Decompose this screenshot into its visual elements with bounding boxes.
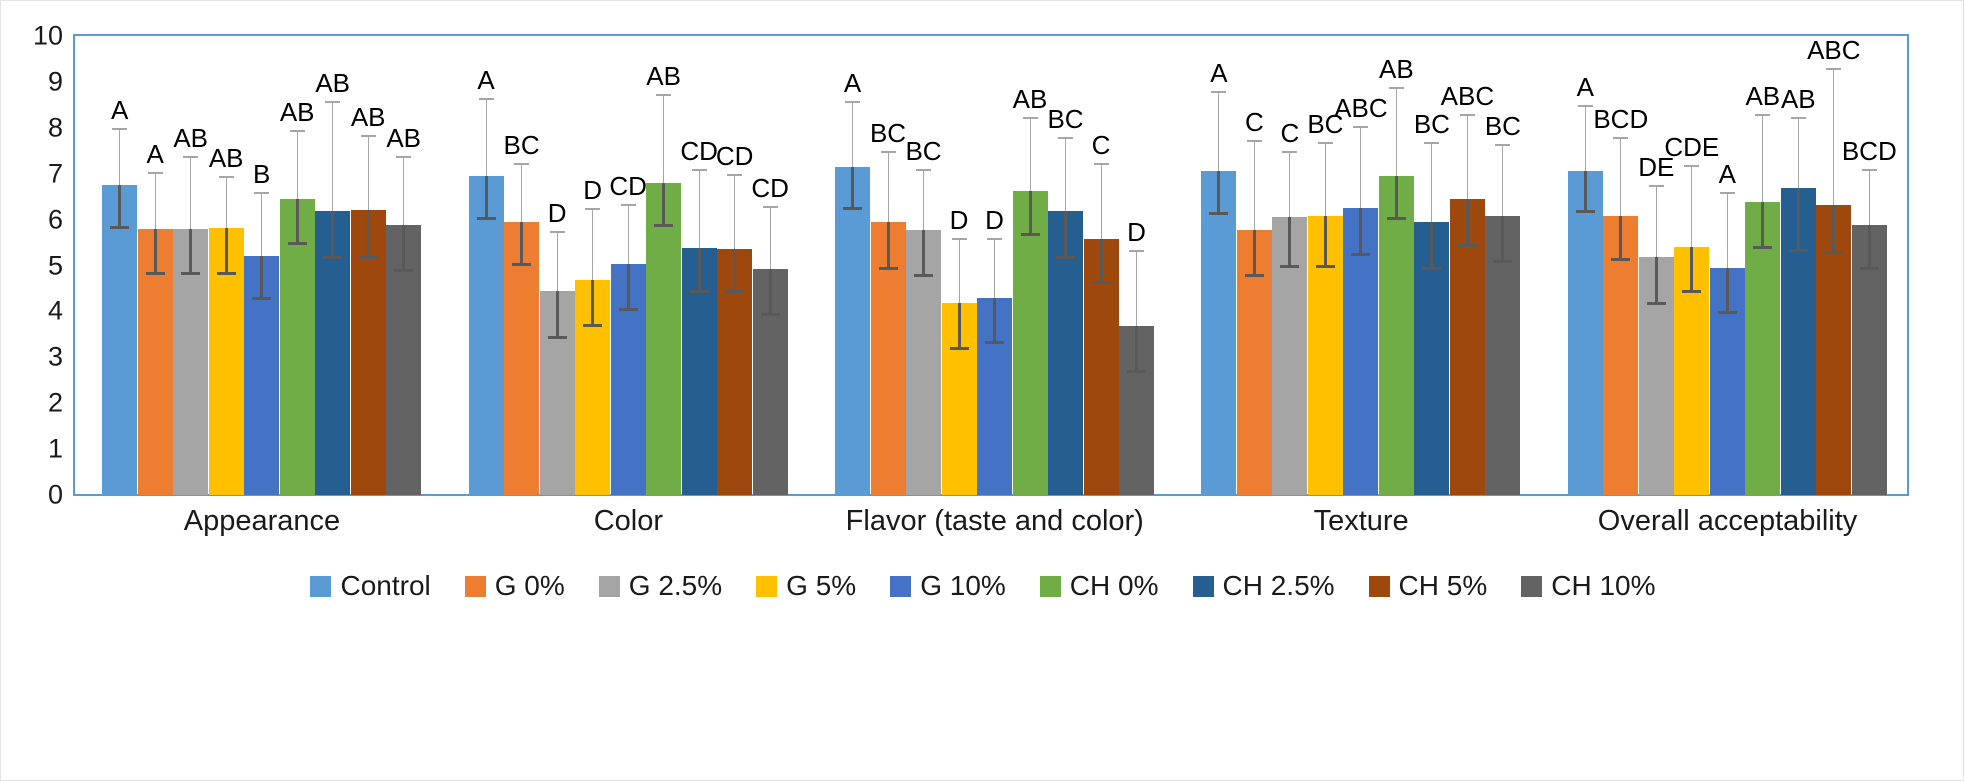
- error-bar-upper-cap: [1389, 87, 1404, 89]
- error-bar-lower-cap: [1647, 302, 1666, 305]
- significance-letter: C: [1245, 109, 1264, 135]
- error-bar-lower-line: [1100, 239, 1103, 284]
- error-bar-lower-line: [260, 256, 263, 300]
- error-bar-lower-cap: [110, 226, 129, 229]
- error-bar-lower-cap: [512, 263, 531, 266]
- error-bar-upper-cap: [1649, 185, 1664, 187]
- significance-letter: AB: [1379, 56, 1414, 82]
- error-bar-lower-cap: [217, 272, 236, 275]
- error-bar-lower-line: [1253, 230, 1256, 277]
- error-bar-upper-cap: [1613, 137, 1628, 139]
- error-bar-lower-cap: [690, 290, 709, 293]
- bar-slot: D: [977, 36, 1012, 495]
- error-bar-upper-line: [1360, 128, 1361, 208]
- y-axis-tick-8: 8: [48, 114, 63, 141]
- significance-letter: D: [985, 207, 1004, 233]
- error-bar-lower-line: [1761, 202, 1764, 249]
- chart-legend: ControlG 0%G 2.5%G 5%G 10%CH 0%CH 2.5%CH…: [1, 563, 1964, 609]
- bar-slot: A: [469, 36, 504, 495]
- significance-letter: D: [548, 200, 567, 226]
- error-bar-upper-cap: [1353, 126, 1368, 128]
- error-bar-lower-cap: [288, 242, 307, 245]
- significance-letter: A: [477, 67, 494, 93]
- error-bar-lower-line: [1501, 216, 1504, 263]
- error-bar-upper-cap: [1424, 142, 1439, 144]
- error-bar-lower-line: [1135, 326, 1138, 373]
- bar-slot: CDE: [1674, 36, 1709, 495]
- error-bar-lower-cap: [323, 256, 342, 259]
- error-bar-lower-line: [1288, 217, 1291, 267]
- legend-label-ch-5: CH 5%: [1399, 572, 1488, 600]
- error-bar-lower-line: [225, 228, 228, 275]
- error-bar-lower-cap: [1753, 246, 1772, 249]
- bar-control[interactable]: [469, 176, 504, 495]
- error-bar-lower-line: [1619, 216, 1622, 261]
- error-bar-upper-line: [297, 132, 298, 199]
- error-bar-upper-cap: [183, 156, 198, 158]
- error-bar-upper-line: [959, 240, 960, 303]
- error-bar-lower-line: [296, 199, 299, 245]
- error-bar-lower-cap: [985, 341, 1004, 344]
- error-bar-upper-line: [332, 103, 333, 212]
- error-bar-upper-cap: [219, 176, 234, 178]
- error-bar-lower-cap: [1316, 265, 1335, 268]
- bar-slot: C: [1272, 36, 1307, 495]
- significance-letter: A: [1719, 161, 1736, 187]
- error-bar-upper-line: [1431, 144, 1432, 222]
- error-bar-upper-cap: [1578, 105, 1593, 107]
- error-bar-lower-cap: [1351, 253, 1370, 256]
- error-bar-upper-line: [1101, 165, 1102, 239]
- error-bar-upper-cap: [290, 130, 305, 132]
- error-bar-upper-line: [734, 176, 735, 249]
- y-axis-tick-3: 3: [48, 344, 63, 371]
- legend-item-control[interactable]: Control: [310, 572, 430, 600]
- error-bar-upper-line: [1691, 167, 1692, 247]
- error-bar-lower-line: [485, 176, 488, 220]
- error-bar-upper-cap: [396, 156, 411, 158]
- legend-label-g-10: G 10%: [920, 572, 1006, 600]
- error-bar-lower-cap: [1718, 311, 1737, 314]
- plot-area: AAABABBABABABABABCDDCDABCDCDCDABCBCDDABB…: [75, 36, 1907, 495]
- significance-letter: B: [253, 161, 270, 187]
- error-bar-upper-line: [226, 178, 227, 228]
- error-bar-lower-line: [662, 183, 665, 227]
- y-axis-tick-10: 10: [33, 23, 63, 50]
- y-axis-tick-2: 2: [48, 390, 63, 417]
- significance-letter: A: [1210, 60, 1227, 86]
- bar-slot: D: [1119, 36, 1154, 495]
- bar-slot: CD: [611, 36, 646, 495]
- error-bar-upper-cap: [585, 208, 600, 210]
- error-bar-upper-cap: [1684, 165, 1699, 167]
- error-bar-upper-cap: [952, 238, 967, 240]
- bar-group-color: ABCDDCDABCDCDCD: [469, 36, 789, 495]
- error-bar-lower-line: [1217, 171, 1220, 215]
- error-bar-lower-line: [1466, 199, 1469, 247]
- bar-slot: B: [244, 36, 279, 495]
- legend-label-ch-2-5: CH 2.5%: [1223, 572, 1335, 600]
- error-bar-upper-line: [261, 194, 262, 256]
- legend-label-g-2-5: G 2.5%: [629, 572, 722, 600]
- error-bar-lower-cap: [252, 297, 271, 300]
- error-bar-lower-line: [887, 222, 890, 270]
- error-bar-upper-line: [888, 153, 889, 222]
- error-bar-lower-cap: [1021, 233, 1040, 236]
- bar-slot: DE: [1639, 36, 1674, 495]
- legend-label-ch-10: CH 10%: [1551, 572, 1655, 600]
- significance-letter: BC: [1414, 111, 1450, 137]
- error-bar-lower-cap: [1209, 212, 1228, 215]
- error-bar-lower-line: [154, 229, 157, 275]
- error-bar-upper-cap: [845, 101, 860, 103]
- error-bar-upper-line: [368, 137, 369, 210]
- error-bar-upper-cap: [1094, 163, 1109, 165]
- bar-slot: A: [1201, 36, 1236, 495]
- error-bar-upper-cap: [1791, 117, 1806, 119]
- chart-page: 012345678910 AAABABBABABABABABCDDCDABCDC…: [0, 0, 1964, 781]
- error-bar-upper-cap: [621, 204, 636, 206]
- error-bar-upper-line: [521, 165, 522, 222]
- error-bar-lower-cap: [1824, 251, 1843, 254]
- bar-slot: D: [540, 36, 575, 495]
- bar-group-appearance: AAABABBABABABAB: [102, 36, 422, 495]
- legend-item-g-5[interactable]: G 5%: [756, 572, 856, 600]
- bar-slot: D: [575, 36, 610, 495]
- error-bar-upper-line: [119, 130, 120, 185]
- error-bar-lower-line: [1395, 176, 1398, 220]
- bar-slot: D: [942, 36, 977, 495]
- bar-slot: A: [138, 36, 173, 495]
- error-bar-lower-cap: [843, 207, 862, 210]
- bar-slot: ABC: [1450, 36, 1485, 495]
- error-bar-lower-line: [1797, 188, 1800, 251]
- error-bar-lower-cap: [359, 256, 378, 259]
- error-bar-upper-cap: [1720, 192, 1735, 194]
- legend-swatch-ch-2-5: [1193, 576, 1214, 597]
- error-bar-upper-line: [1656, 187, 1657, 257]
- error-bar-lower-cap: [1387, 217, 1406, 220]
- significance-letter: BC: [870, 120, 906, 146]
- error-bar-lower-line: [769, 269, 772, 316]
- error-bar-upper-cap: [1318, 142, 1333, 144]
- error-bar-lower-cap: [1458, 244, 1477, 247]
- category-label: Texture: [1314, 504, 1409, 539]
- bar-ch-0[interactable]: [1379, 176, 1414, 495]
- significance-letter: A: [147, 141, 164, 167]
- error-bar-lower-line: [851, 167, 854, 211]
- significance-letter: CD: [680, 138, 718, 164]
- bar-slot: BCD: [1603, 36, 1638, 495]
- error-bar-lower-line: [922, 230, 925, 277]
- error-bar-upper-line: [699, 171, 700, 248]
- error-bar-lower-cap: [1576, 210, 1595, 213]
- error-bar-lower-line: [1655, 257, 1658, 304]
- error-bar-upper-line: [486, 100, 487, 176]
- error-bar-lower-cap: [1422, 267, 1441, 270]
- legend-swatch-g-10: [890, 576, 911, 597]
- significance-letter: D: [583, 177, 602, 203]
- bar-group-flavor-taste-and-color: ABCBCDDABBCCD: [835, 36, 1155, 495]
- error-bar-lower-line: [1832, 205, 1835, 254]
- error-bar-lower-cap: [1056, 256, 1075, 259]
- error-bar-upper-cap: [1862, 169, 1877, 171]
- bar-slot: AB: [1781, 36, 1816, 495]
- error-bar-upper-line: [1325, 144, 1326, 216]
- significance-letter: C: [1281, 120, 1300, 146]
- error-bar-lower-line: [627, 264, 630, 311]
- significance-letter: BC: [1047, 106, 1083, 132]
- error-bar-upper-cap: [550, 231, 565, 233]
- error-bar-upper-cap: [1058, 137, 1073, 139]
- error-bar-lower-cap: [725, 290, 744, 293]
- error-bar-upper-cap: [1023, 117, 1038, 119]
- error-bar-upper-line: [1727, 194, 1728, 267]
- error-bar-lower-line: [1064, 211, 1067, 258]
- y-axis-tick-1: 1: [48, 436, 63, 463]
- legend-item-ch-0[interactable]: CH 0%: [1040, 572, 1159, 600]
- bar-slot: A: [1710, 36, 1745, 495]
- error-bar-upper-cap: [148, 172, 163, 174]
- legend-item-ch-5[interactable]: CH 5%: [1369, 572, 1488, 600]
- bar-slot: AB: [1013, 36, 1048, 495]
- error-bar-lower-line: [698, 248, 701, 293]
- error-bar-upper-line: [1396, 89, 1397, 176]
- significance-letter: AB: [1781, 86, 1816, 112]
- bar-slot: ABC: [1343, 36, 1378, 495]
- category-label: Color: [594, 504, 663, 539]
- y-axis-tick-4: 4: [48, 298, 63, 325]
- error-bar-upper-cap: [479, 98, 494, 100]
- error-bar-lower-cap: [583, 324, 602, 327]
- error-bar-lower-line: [1584, 171, 1587, 212]
- error-bar-upper-line: [1620, 139, 1621, 216]
- error-bar-lower-cap: [761, 313, 780, 316]
- error-bar-upper-line: [1254, 142, 1255, 230]
- significance-letter: AB: [386, 125, 421, 151]
- error-bar-upper-line: [1289, 153, 1290, 217]
- error-bar-lower-cap: [914, 274, 933, 277]
- significance-letter: BC: [905, 138, 941, 164]
- bar-slot: AB: [315, 36, 350, 495]
- bar-slot: C: [1084, 36, 1119, 495]
- bar-slot: BC: [1048, 36, 1083, 495]
- legend-item-ch-2-5[interactable]: CH 2.5%: [1193, 572, 1335, 600]
- error-bar-upper-cap: [1495, 144, 1510, 146]
- error-bar-upper-line: [1030, 119, 1031, 192]
- legend-label-control: Control: [340, 572, 430, 600]
- error-bar-lower-line: [1324, 216, 1327, 268]
- error-bar-lower-line: [1726, 268, 1729, 314]
- significance-letter: A: [111, 97, 128, 123]
- error-bar-lower-cap: [619, 308, 638, 311]
- error-bar-upper-cap: [1247, 140, 1262, 142]
- error-bar-upper-cap: [1129, 250, 1144, 252]
- error-bar-lower-cap: [1245, 274, 1264, 277]
- bar-control[interactable]: [1568, 171, 1603, 495]
- significance-letter: AB: [209, 145, 244, 171]
- error-bar-lower-line: [331, 211, 334, 258]
- error-bar-upper-cap: [656, 94, 671, 96]
- bar-slot: C: [1237, 36, 1272, 495]
- error-bar-lower-line: [1029, 191, 1032, 236]
- error-bar-upper-line: [1502, 146, 1503, 216]
- bar-slot: AB: [209, 36, 244, 495]
- bar-ch-0[interactable]: [646, 183, 681, 495]
- error-bar-lower-line: [1690, 247, 1693, 293]
- error-bar-lower-cap: [1092, 281, 1111, 284]
- error-bar-upper-cap: [763, 206, 778, 208]
- error-bar-upper-line: [190, 158, 191, 229]
- error-bar-lower-line: [520, 222, 523, 266]
- bar-slot: CD: [753, 36, 788, 495]
- error-bar-upper-line: [923, 171, 924, 229]
- bar-slot: AB: [173, 36, 208, 495]
- error-bar-upper-cap: [514, 163, 529, 165]
- legend-swatch-g-2-5: [599, 576, 620, 597]
- error-bar-lower-cap: [181, 272, 200, 275]
- error-bar-lower-cap: [394, 269, 413, 272]
- error-bar-lower-line: [1359, 208, 1362, 256]
- error-bar-upper-line: [994, 240, 995, 297]
- error-bar-upper-line: [592, 210, 593, 280]
- significance-letter: C: [1092, 132, 1111, 158]
- legend-label-g-0: G 0%: [495, 572, 565, 600]
- significance-letter: BC: [504, 132, 540, 158]
- error-bar-upper-line: [155, 174, 156, 229]
- error-bar-lower-cap: [146, 272, 165, 275]
- legend-item-g-10[interactable]: G 10%: [890, 572, 1006, 600]
- error-bar-lower-line: [1868, 225, 1871, 270]
- significance-letter: AB: [351, 104, 386, 130]
- y-axis-tick-6: 6: [48, 206, 63, 233]
- error-bar-upper-line: [1869, 171, 1870, 225]
- error-bar-upper-line: [852, 103, 853, 167]
- error-bar-upper-cap: [987, 238, 1002, 240]
- error-bar-lower-line: [733, 249, 736, 293]
- bar-slot: CD: [717, 36, 752, 495]
- error-bar-upper-cap: [254, 192, 269, 194]
- y-axis-tick-0: 0: [48, 482, 63, 509]
- legend-label-ch-0: CH 0%: [1070, 572, 1159, 600]
- significance-letter: AB: [1745, 83, 1780, 109]
- bar-slot: BC: [906, 36, 941, 495]
- category-label: Overall acceptability: [1598, 504, 1858, 539]
- error-bar-lower-cap: [1280, 265, 1299, 268]
- error-bar-upper-cap: [1282, 151, 1297, 153]
- bar-ch-0[interactable]: [1013, 191, 1048, 495]
- error-bar-upper-cap: [1211, 91, 1226, 93]
- error-bar-upper-line: [628, 206, 629, 264]
- bar-slot: AB: [386, 36, 421, 495]
- legend-swatch-ch-5: [1369, 576, 1390, 597]
- error-bar-lower-cap: [1611, 258, 1630, 261]
- legend-swatch-g-0: [465, 576, 486, 597]
- error-bar-upper-line: [1585, 107, 1586, 171]
- bar-control[interactable]: [1201, 171, 1236, 495]
- error-bar-lower-cap: [950, 347, 969, 350]
- legend-item-g-2-5[interactable]: G 2.5%: [599, 572, 722, 600]
- bar-slot: BCD: [1852, 36, 1887, 495]
- y-axis-tick-9: 9: [48, 68, 63, 95]
- error-bar-upper-cap: [112, 128, 127, 130]
- legend-label-g-5: G 5%: [786, 572, 856, 600]
- bar-slot: A: [835, 36, 870, 495]
- error-bar-upper-cap: [1755, 114, 1770, 116]
- error-bar-upper-cap: [1826, 68, 1841, 70]
- legend-swatch-ch-0: [1040, 576, 1061, 597]
- error-bar-lower-cap: [1789, 249, 1808, 252]
- bar-group-texture: ACCBCABCABBCABCBC: [1201, 36, 1521, 495]
- bar-control[interactable]: [102, 185, 137, 495]
- significance-letter: AB: [646, 63, 681, 89]
- error-bar-lower-cap: [1493, 260, 1512, 263]
- significance-letter: D: [950, 207, 969, 233]
- bar-slot: BC: [504, 36, 539, 495]
- error-bar-upper-line: [1833, 70, 1834, 204]
- significance-letter: AB: [280, 99, 315, 125]
- error-bar-upper-line: [1218, 93, 1219, 171]
- error-bar-upper-cap: [692, 169, 707, 171]
- bar-slot: ABC: [1816, 36, 1851, 495]
- significance-letter: A: [1577, 74, 1594, 100]
- error-bar-lower-cap: [1127, 370, 1146, 373]
- error-bar-upper-cap: [881, 151, 896, 153]
- error-bar-upper-cap: [727, 174, 742, 176]
- bar-slot: AB: [1379, 36, 1414, 495]
- error-bar-upper-cap: [916, 169, 931, 171]
- error-bar-upper-cap: [1460, 114, 1475, 116]
- legend-swatch-control: [310, 576, 331, 597]
- legend-swatch-g-5: [756, 576, 777, 597]
- error-bar-upper-line: [1762, 116, 1763, 202]
- error-bar-lower-line: [958, 303, 961, 350]
- error-bar-lower-cap: [879, 267, 898, 270]
- legend-item-g-0[interactable]: G 0%: [465, 572, 565, 600]
- bar-slot: AB: [280, 36, 315, 495]
- bar-slot: BC: [871, 36, 906, 495]
- category-label: Flavor (taste and color): [846, 504, 1144, 539]
- error-bar-upper-line: [1798, 119, 1799, 189]
- significance-letter: AB: [1013, 86, 1048, 112]
- y-axis-tick-5: 5: [48, 252, 63, 279]
- significance-letter: CD: [716, 143, 754, 169]
- error-bar-upper-line: [557, 233, 558, 290]
- y-axis: 012345678910: [1, 1, 73, 501]
- bar-slot: AB: [351, 36, 386, 495]
- bar-control[interactable]: [835, 167, 870, 495]
- legend-item-ch-10[interactable]: CH 10%: [1521, 572, 1655, 600]
- error-bar-upper-line: [1065, 139, 1066, 211]
- error-bar-lower-line: [402, 225, 405, 272]
- significance-letter: AB: [173, 125, 208, 151]
- bar-slot: AB: [646, 36, 681, 495]
- error-bar-lower-cap: [548, 336, 567, 339]
- bar-slot: BC: [1485, 36, 1520, 495]
- bar-slot: AB: [1745, 36, 1780, 495]
- error-bar-upper-line: [403, 158, 404, 225]
- error-bar-lower-line: [993, 298, 996, 344]
- error-bar-lower-cap: [1682, 290, 1701, 293]
- error-bar-upper-line: [1136, 252, 1137, 326]
- significance-letter: A: [844, 70, 861, 96]
- legend-swatch-ch-10: [1521, 576, 1542, 597]
- significance-letter: BCD: [1842, 138, 1897, 164]
- error-bar-upper-cap: [325, 101, 340, 103]
- error-bar-lower-cap: [654, 224, 673, 227]
- error-bar-lower-line: [118, 185, 121, 229]
- error-bar-lower-line: [189, 229, 192, 275]
